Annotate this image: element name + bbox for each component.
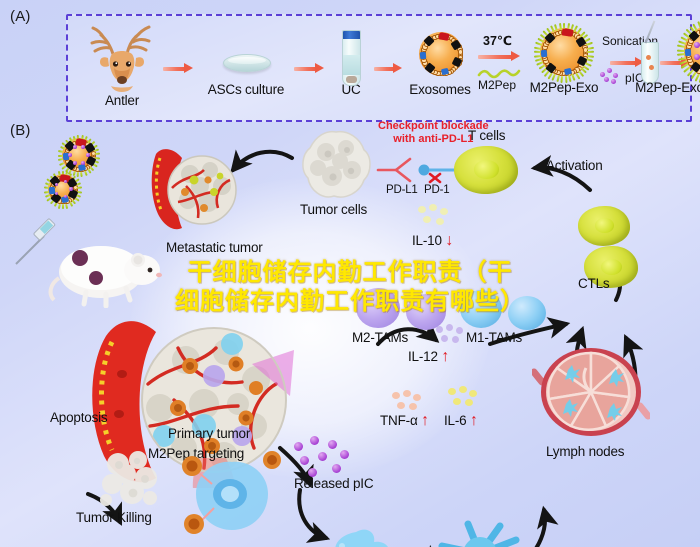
- step-m2pep-exo-pic: M2Pep-Exo(pIC): [624, 22, 700, 95]
- ctl-cell-icon-1: [578, 206, 630, 246]
- apoptosis-label: Apoptosis: [50, 410, 108, 425]
- il6-text: IL-6: [444, 413, 466, 428]
- pd-1-label: PD-1: [424, 184, 449, 196]
- panel-a-tag: (A): [10, 8, 31, 25]
- panel-b-container: Metastatic tumor Tumor cells Checkpoint …: [0, 118, 700, 547]
- scientific-figure: (A) (B): [0, 0, 700, 547]
- t-cell-icon-1: [454, 146, 518, 194]
- deer-icon: [79, 24, 165, 92]
- m1-tam-icon-2: [508, 296, 546, 330]
- il10-arrow: ↓: [445, 232, 453, 249]
- tnf-alpha-label: TNF-α ↑: [380, 412, 429, 430]
- il12-arrow: ↑: [441, 348, 449, 365]
- released-pic-label: Released pIC: [294, 476, 373, 491]
- il6-dots-icon: [448, 386, 480, 408]
- il10-label: IL-10 ↓: [412, 232, 453, 250]
- il12-label: IL-12 ↑: [408, 348, 449, 366]
- ctls-label: CTLs: [578, 276, 609, 291]
- step-uc: UC: [324, 24, 378, 97]
- dying-tumor-cell-icon: [92, 444, 168, 516]
- loaded-exosome-icon: [684, 26, 700, 76]
- m1-tam-icon-1: [460, 290, 502, 328]
- il6-arrow: ↑: [470, 412, 478, 429]
- petri-dish-icon: [223, 54, 271, 72]
- activation-label: Activation: [546, 158, 603, 173]
- step-antler-label: Antler: [76, 93, 168, 108]
- m1-tams-label: M1-TAMs: [466, 330, 522, 345]
- m2pep-targeting-icon: [176, 450, 286, 536]
- metastatic-tumor-label: Metastatic tumor: [166, 240, 263, 255]
- panel-a-container: Antler ASCs culture UC: [66, 14, 692, 122]
- immature-dc-icon: [314, 524, 400, 547]
- mature-dc-icon: [434, 516, 528, 547]
- il12-dots-icon: [436, 324, 468, 346]
- il6-label: IL-6 ↑: [444, 412, 478, 430]
- il10-dots-icon: [418, 204, 452, 230]
- metastatic-tumor-icon: [148, 140, 256, 236]
- tumor-cells-icon: [298, 128, 374, 202]
- arrow-antler-to-asc: [163, 64, 193, 73]
- m2pep-label: M2Pep: [478, 78, 516, 92]
- tnf-alpha-arrow: ↑: [421, 412, 429, 429]
- step-asc-culture: ASCs culture: [196, 24, 296, 97]
- primary-tumor-label: Primary tumor: [168, 426, 250, 441]
- tumor-killing-label: Tumor Killing: [76, 510, 152, 525]
- il10-text: IL-10: [412, 233, 442, 248]
- m2-tam-icon-1: [356, 288, 400, 328]
- t-cells-label: T cells: [468, 128, 505, 143]
- m2-tams-label: M2-TAMs: [352, 330, 408, 345]
- checkpoint-line-2: with anti-PD-L1: [393, 133, 473, 145]
- temperature-label: 37℃: [483, 33, 512, 48]
- tnf-alpha-text: TNF-α: [380, 413, 418, 428]
- mouse-icon: [46, 230, 166, 308]
- lymph-nodes-label: Lymph nodes: [546, 444, 624, 459]
- il12-text: IL-12: [408, 349, 438, 364]
- centrifuge-tube-icon: [342, 30, 361, 86]
- step-m2pep-exo: M2Pep-Exo: [514, 22, 614, 95]
- arrow-asc-to-uc: [294, 64, 324, 73]
- nanoparticle-icon-2: [48, 174, 78, 204]
- tumor-cells-label: Tumor cells: [300, 202, 367, 217]
- nanoparticle-icon-1: [62, 138, 96, 172]
- peptide-exosome-icon: [540, 28, 588, 76]
- step-antler: Antler: [76, 24, 168, 108]
- pd-l1-label: PD-L1: [386, 184, 418, 196]
- lymph-node-icon: [532, 340, 650, 444]
- step-exosomes: Exosomes: [398, 24, 482, 97]
- pic-cluster-icon: [600, 68, 622, 84]
- released-pic-cluster-icon: [292, 436, 350, 478]
- tnf-dots-icon: [392, 390, 424, 412]
- exosome-icon: [419, 32, 463, 76]
